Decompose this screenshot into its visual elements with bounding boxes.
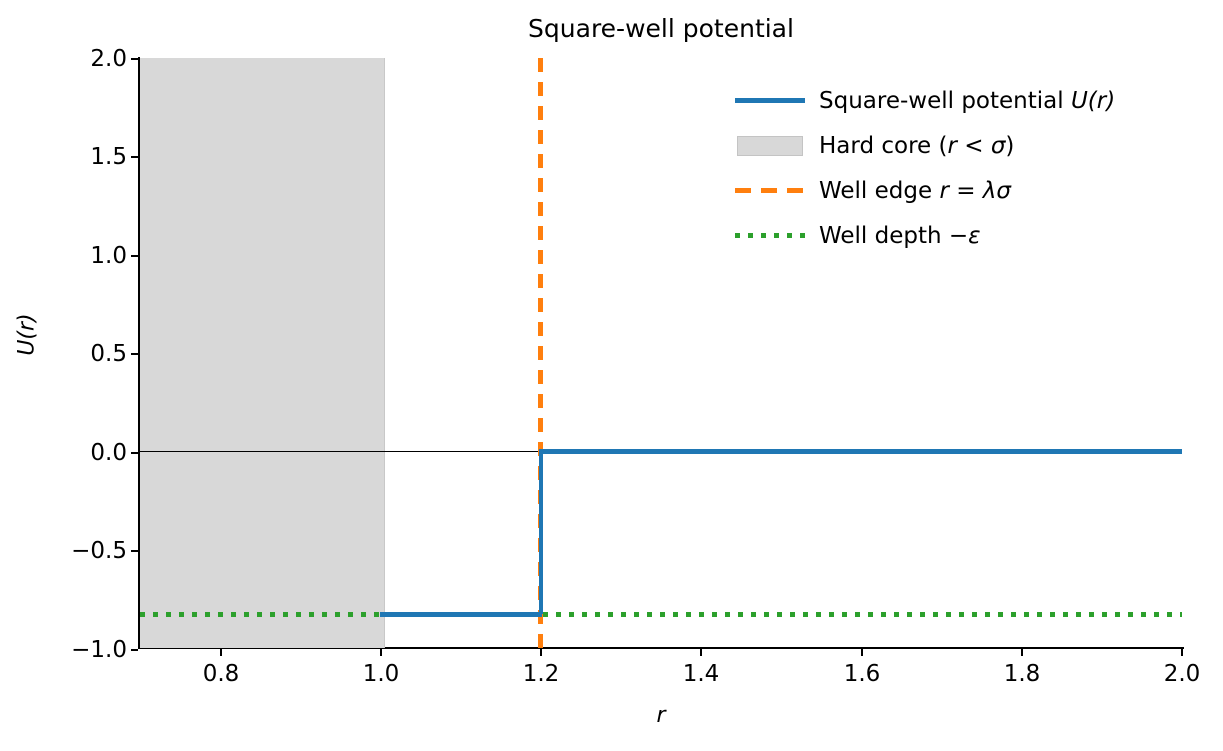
y-tick-mark [131, 550, 138, 552]
legend-handle-solid-line-icon [735, 88, 805, 114]
x-tick-label: 2.0 [1164, 661, 1201, 687]
y-tick-mark [131, 353, 138, 355]
y-tick-label: 0.0 [90, 440, 127, 466]
y-tick-label: −1.0 [71, 637, 127, 663]
y-tick-mark [131, 58, 138, 60]
legend-label: Hard core (r < σ) [819, 133, 1014, 159]
y-tick-label: 0.5 [90, 341, 127, 367]
x-tick-mark [220, 649, 222, 656]
x-tick-mark [861, 649, 863, 656]
potential-curve-outer-segment [539, 449, 1183, 454]
legend-handle-patch-icon [735, 133, 805, 159]
y-tick-mark [131, 255, 138, 257]
x-tick-label: 1.0 [363, 661, 400, 687]
x-tick-mark [700, 649, 702, 656]
legend-item-well-depth[interactable]: Well depth −ε [735, 213, 1175, 258]
potential-curve-well-segment [380, 612, 542, 617]
x-tick-label: 1.8 [1004, 661, 1041, 687]
x-tick-label: 0.8 [203, 661, 240, 687]
legend-handle-dashed-line-icon [735, 178, 805, 204]
y-tick-mark [131, 649, 138, 651]
y-tick-mark [131, 452, 138, 454]
x-tick-label: 1.6 [844, 661, 881, 687]
potential-curve-step-segment [539, 451, 544, 614]
x-tick-mark [1181, 649, 1183, 656]
y-tick-mark [131, 156, 138, 158]
matplotlib-figure: Square-well potential 0.8 1.0 1.2 1.4 1.… [0, 0, 1223, 751]
legend-handle-dotted-line-icon [735, 223, 805, 249]
y-axis-label: U(r) [15, 290, 40, 380]
x-tick-mark [540, 649, 542, 656]
legend: Square-well potential U(r) Hard core (r … [735, 78, 1175, 258]
chart-title: Square-well potential [140, 14, 1182, 43]
x-tick-mark [1021, 649, 1023, 656]
y-axis-label-text: U(r) [15, 313, 40, 355]
y-tick-label: −0.5 [71, 538, 127, 564]
y-tick-label: 1.5 [90, 144, 127, 170]
x-tick-mark [380, 649, 382, 656]
x-axis-label: r [140, 703, 1182, 728]
legend-label: Square-well potential U(r) [819, 88, 1115, 114]
x-tick-label: 1.2 [523, 661, 560, 687]
y-tick-label: 2.0 [90, 46, 127, 72]
y-tick-label: 1.0 [90, 243, 127, 269]
hard-core-region [140, 58, 385, 648]
legend-item-well-edge[interactable]: Well edge r = λσ [735, 168, 1175, 213]
legend-label: Well edge r = λσ [819, 178, 1011, 204]
legend-item-hard-core[interactable]: Hard core (r < σ) [735, 123, 1175, 168]
x-tick-label: 1.4 [683, 661, 720, 687]
legend-label: Well depth −ε [819, 223, 981, 249]
legend-item-potential[interactable]: Square-well potential U(r) [735, 78, 1175, 123]
well-depth-line [140, 612, 1182, 617]
